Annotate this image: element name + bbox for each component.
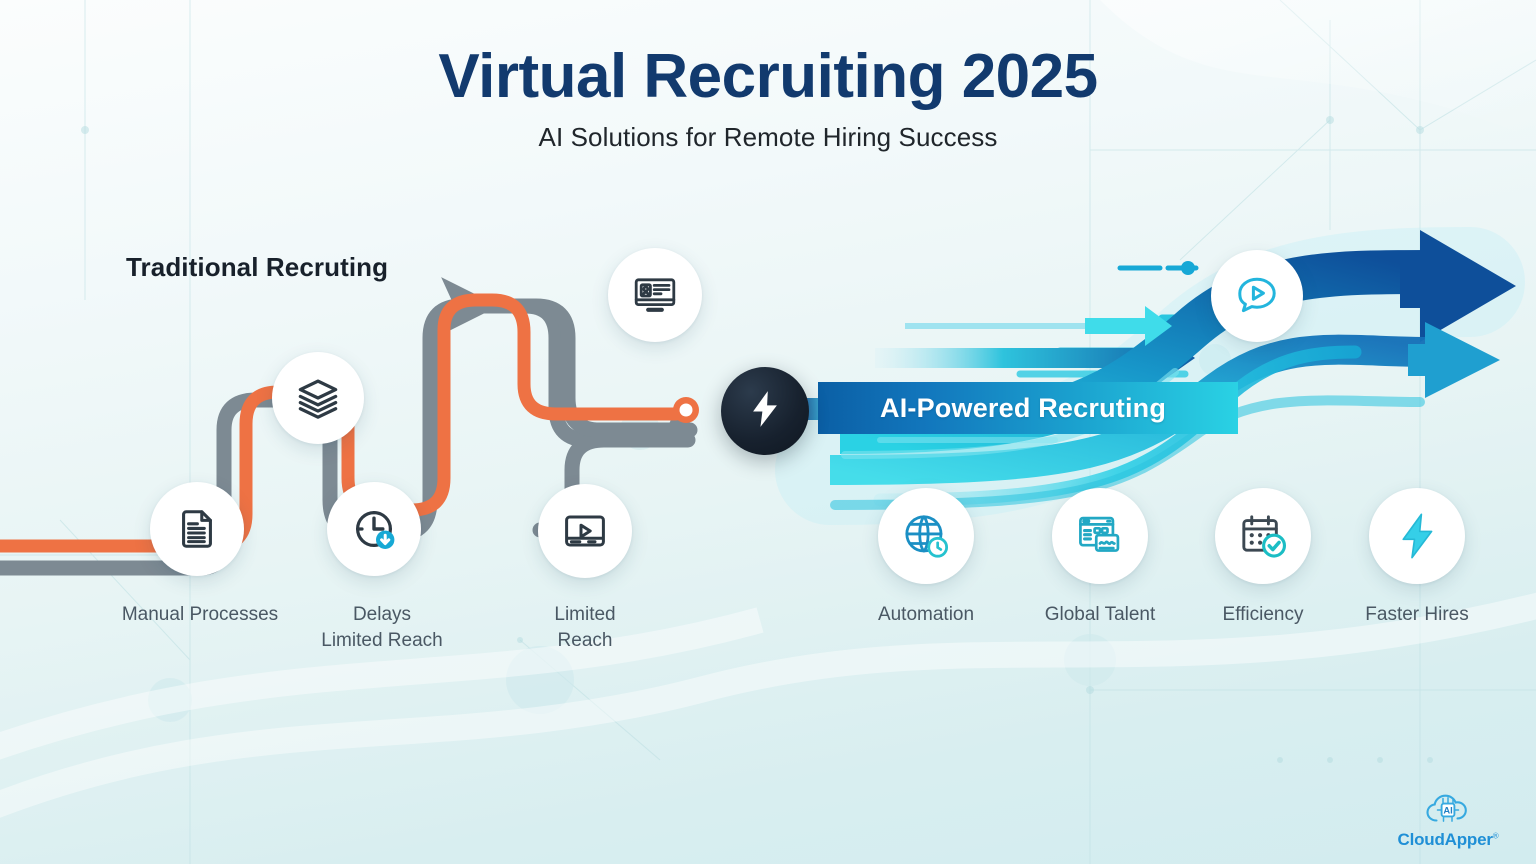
page-title: Virtual Recruiting 2025	[0, 44, 1536, 110]
caption-line-1: Manual Processes	[110, 602, 290, 628]
caption-limited-reach: Limited Reach	[497, 602, 673, 654]
caption-line-2: Limited Reach	[292, 628, 472, 654]
bolt-divider-badge	[721, 367, 809, 455]
caption-global-talent: Global Talent	[1010, 602, 1190, 628]
bubble-clock-delay[interactable]	[327, 482, 421, 576]
calendar-check-icon	[1238, 511, 1288, 561]
cloudapper-ai-logo[interactable]: AI CloudApper®	[1388, 789, 1508, 850]
traditional-section-label: Traditional Recruting	[126, 252, 388, 283]
ai-section-label: AI-Powered Recruting	[880, 393, 1166, 424]
layers-stack-icon	[295, 375, 341, 421]
caption-automation: Automation	[836, 602, 1016, 628]
cloud-ai-mark: AI	[1388, 789, 1508, 829]
caption-line-1: Efficiency	[1173, 602, 1353, 628]
caption-line-1: Faster Hires	[1327, 602, 1507, 628]
caption-delays: Delays Limited Reach	[292, 602, 472, 654]
bubble-video-chat[interactable]	[1211, 250, 1303, 342]
clock-delay-icon	[350, 505, 398, 553]
bubble-bolt-cyan[interactable]	[1369, 488, 1465, 584]
logo-trademark: ®	[1493, 831, 1499, 840]
lightning-bolt-cyan-icon	[1392, 511, 1442, 561]
dashboard-window-icon	[1075, 511, 1125, 561]
video-player-icon	[561, 507, 609, 555]
bubble-layers[interactable]	[272, 352, 364, 444]
bubble-dashboard[interactable]	[1052, 488, 1148, 584]
bubble-video-player[interactable]	[538, 484, 632, 578]
globe-network-icon	[901, 511, 951, 561]
bubble-calendar[interactable]	[1215, 488, 1311, 584]
caption-line-2: Reach	[497, 628, 673, 654]
logo-brand-text: CloudApper®	[1388, 830, 1508, 850]
bubble-document[interactable]	[150, 482, 244, 576]
bubble-globe[interactable]	[878, 488, 974, 584]
caption-faster-hires: Faster Hires	[1327, 602, 1507, 628]
caption-line-1: Automation	[836, 602, 1016, 628]
caption-line-1: Limited	[497, 602, 673, 628]
ai-section-banner: AI-Powered Recruting	[818, 382, 1238, 434]
video-chat-bubble-icon	[1233, 272, 1281, 320]
caption-efficiency: Efficiency	[1173, 602, 1353, 628]
logo-brand-label: CloudApper	[1398, 830, 1493, 849]
bubble-resume-screen[interactable]	[608, 248, 702, 342]
caption-line-1: Global Talent	[1010, 602, 1190, 628]
resume-screen-icon	[631, 271, 679, 319]
page-subtitle: AI Solutions for Remote Hiring Success	[0, 122, 1536, 153]
caption-manual-processes: Manual Processes	[110, 602, 290, 628]
document-icon	[174, 506, 220, 552]
svg-text:AI: AI	[1443, 804, 1452, 815]
header: Virtual Recruiting 2025 AI Solutions for…	[0, 44, 1536, 153]
infographic-canvas: Virtual Recruiting 2025 AI Solutions for…	[0, 0, 1536, 864]
lightning-bolt-icon	[744, 388, 786, 435]
caption-line-1: Delays	[292, 602, 472, 628]
